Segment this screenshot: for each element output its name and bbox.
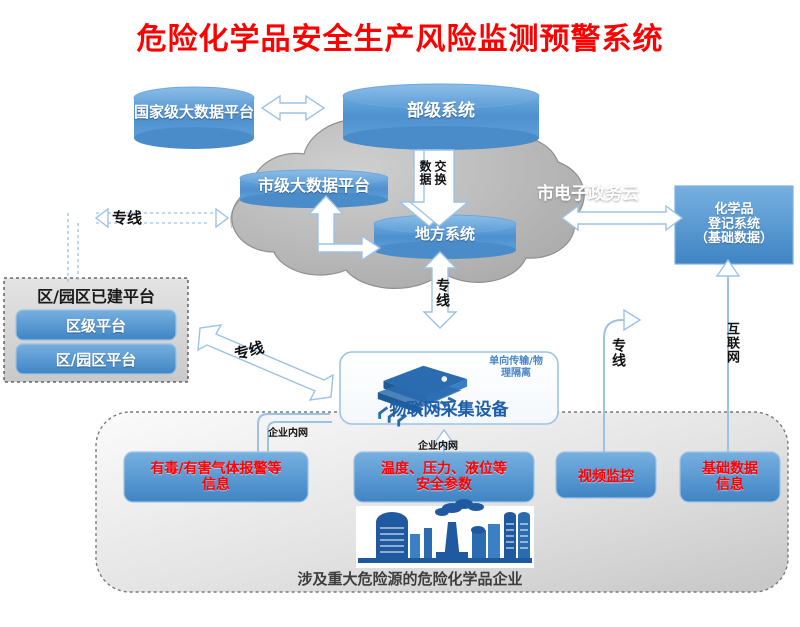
toxic-gas-alarm-label: 有毒/有害气体报警等 信息 — [128, 458, 304, 498]
local-system-label: 地方系统 — [374, 218, 516, 250]
city-bigdata-label: 市级大数据平台 — [240, 172, 388, 200]
page-title: 危险化学品安全生产风险监测预警系统 — [0, 18, 800, 62]
iot-title: 物联网采集设备 — [344, 398, 554, 424]
label-internet: 互联网 — [722, 322, 741, 364]
chemical-registry-line1: 化学品 — [714, 203, 753, 218]
chemical-registry-label: 化学品 登记系统 （基础数据） — [675, 188, 793, 262]
label-dedicated-line-middle: 专线 — [432, 278, 452, 308]
basic-data-label: 基础数据 信息 — [684, 458, 776, 498]
safety-parameters-line1: 温度、压力、液位等 — [381, 462, 507, 478]
iot-note-line2: 理隔离 — [501, 368, 531, 381]
cloud-label: 市电子政务云 — [513, 182, 663, 208]
district-platform-label[interactable]: 区级平台 — [18, 313, 174, 339]
toxic-gas-alarm-line1: 有毒/有害气体报警等 — [150, 462, 281, 478]
basic-data-line2: 信息 — [716, 478, 744, 494]
iot-note-line1: 单向传输/物 — [489, 356, 543, 369]
chemical-registry-line3: （基础数据） — [695, 232, 773, 247]
diagram-canvas: 危险化学品安全生产风险监测预警系统 国家级大数据平台 部级系统 市级大数据平台 … — [0, 0, 800, 627]
enterprise-caption: 涉及重大危险源的危险化学品企业 — [240, 568, 580, 590]
label-dedicated-line-left: 专线 — [112, 207, 142, 228]
iot-isolation-note: 单向传输/物 理隔离 — [480, 352, 552, 384]
national-bigdata-label: 国家级大数据平台 — [134, 88, 254, 136]
basic-data-line1: 基础数据 — [702, 462, 758, 478]
toxic-gas-alarm-line2: 信息 — [202, 478, 230, 494]
arrow-district-iot — [198, 325, 333, 400]
video-monitoring-label: 视频监控 — [560, 464, 652, 492]
chemical-plant-icon — [356, 499, 534, 568]
district-panel-title: 区/园区已建平台 — [8, 285, 184, 309]
label-dedicated-line-right: 专线 — [608, 338, 628, 368]
safety-parameters-line2: 安全参数 — [416, 478, 472, 494]
arrowhead-cloud-right — [216, 209, 228, 227]
district-park-platform-label[interactable]: 区/园区平台 — [18, 347, 174, 373]
label-data-exchange-col2: 交换 — [432, 160, 449, 186]
arrow-national-ministry — [262, 96, 324, 120]
safety-parameters-label: 温度、压力、液位等 安全参数 — [358, 458, 530, 498]
arrowhead-video — [624, 310, 640, 330]
arrowhead-district-left — [96, 209, 108, 227]
label-intranet-2: 企业内网 — [418, 437, 458, 452]
ministry-system-label: 部级系统 — [343, 88, 539, 136]
district-branch — [68, 213, 78, 283]
label-intranet-1: 企业内网 — [268, 424, 308, 439]
